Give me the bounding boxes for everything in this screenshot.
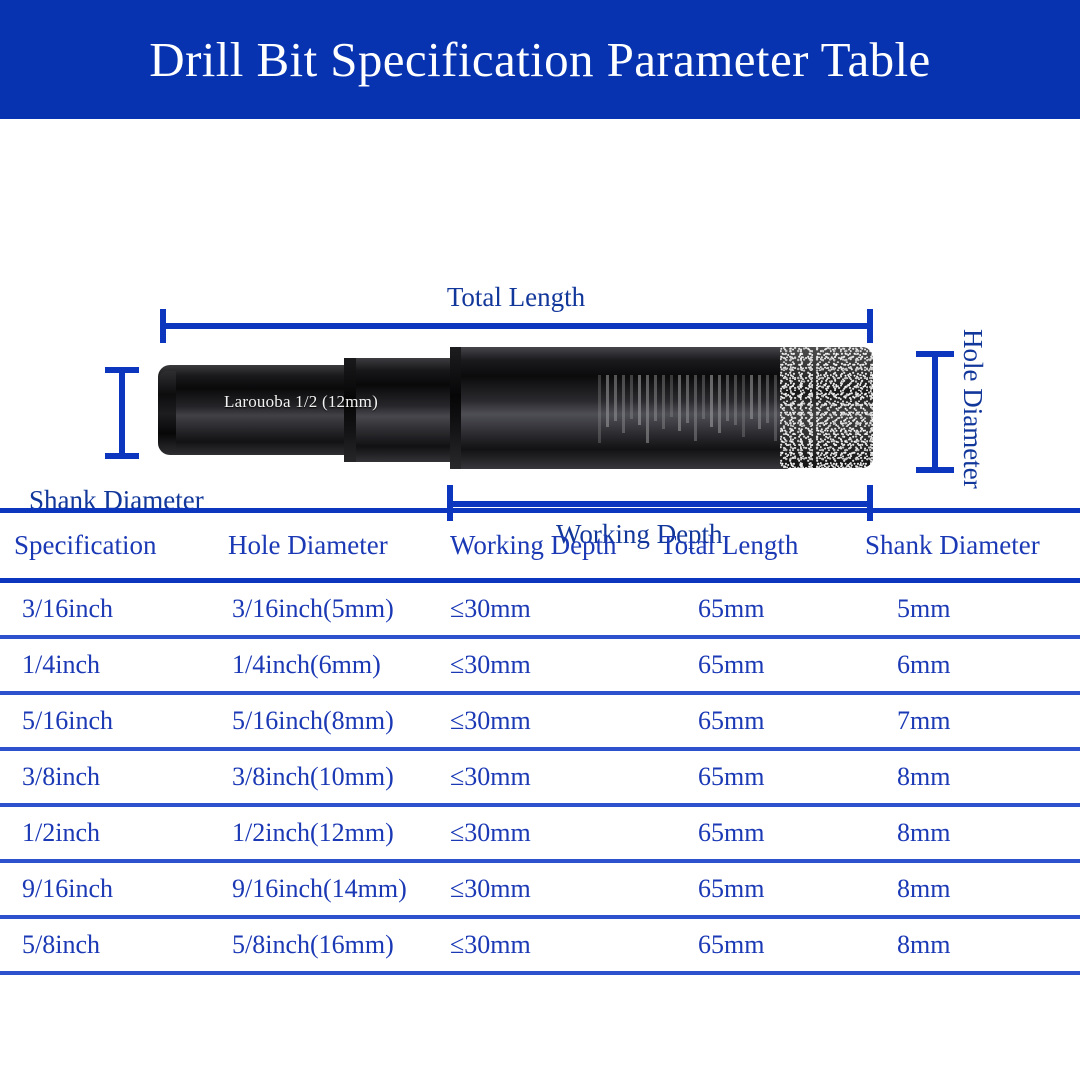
- cell-specification: 5/16inch: [0, 693, 224, 749]
- flute-line: [710, 375, 713, 427]
- cell-specification: 3/16inch: [0, 581, 224, 637]
- flute-line: [646, 375, 649, 443]
- flute-line: [774, 375, 777, 441]
- drill-bit-flute-lines: [598, 375, 784, 443]
- hole-diameter-dimension-cap-top: [916, 351, 954, 357]
- table-row: 5/16inch 5/16inch(8mm) ≤30mm 65mm 7mm: [0, 693, 1080, 749]
- title-banner: Drill Bit Specification Parameter Table: [0, 0, 1080, 119]
- hole-diameter-dimension-cap-bottom: [916, 467, 954, 473]
- flute-line: [758, 375, 761, 429]
- cell-hole-diameter: 9/16inch(14mm): [224, 861, 448, 917]
- column-header-working-depth: Working Depth: [448, 511, 650, 581]
- flute-line: [606, 375, 609, 427]
- cell-specification: 1/2inch: [0, 805, 224, 861]
- cell-total-length: 65mm: [650, 749, 855, 805]
- flute-line: [726, 375, 729, 421]
- table-header-row: Specification Hole Diameter Working Dept…: [0, 511, 1080, 581]
- cell-total-length: 65mm: [650, 917, 855, 973]
- column-header-hole-diameter: Hole Diameter: [224, 511, 448, 581]
- cell-shank-diameter: 5mm: [855, 581, 1080, 637]
- drill-bit-brand-engraving: Larouoba 1/2 (12mm): [224, 392, 378, 412]
- flute-line: [670, 375, 673, 417]
- cell-hole-diameter: 1/4inch(6mm): [224, 637, 448, 693]
- flute-line: [678, 375, 681, 431]
- table-row: 1/2inch 1/2inch(12mm) ≤30mm 65mm 8mm: [0, 805, 1080, 861]
- drill-bit-shank-end-cap: [158, 371, 176, 449]
- total-length-dimension-tick-right: [867, 309, 873, 343]
- cell-working-depth: ≤30mm: [448, 637, 650, 693]
- table-header: Specification Hole Diameter Working Dept…: [0, 511, 1080, 581]
- cell-specification: 3/8inch: [0, 749, 224, 805]
- total-length-dimension-tick-left: [160, 309, 166, 343]
- cell-working-depth: ≤30mm: [448, 917, 650, 973]
- cell-total-length: 65mm: [650, 805, 855, 861]
- cell-shank-diameter: 6mm: [855, 637, 1080, 693]
- cell-hole-diameter: 5/16inch(8mm): [224, 693, 448, 749]
- shank-diameter-dimension-cap-top: [105, 367, 139, 373]
- cell-total-length: 65mm: [650, 861, 855, 917]
- cell-working-depth: ≤30mm: [448, 749, 650, 805]
- cell-specification: 9/16inch: [0, 861, 224, 917]
- cell-working-depth: ≤30mm: [448, 693, 650, 749]
- flute-line: [734, 375, 737, 425]
- flute-line: [742, 375, 745, 437]
- cell-total-length: 65mm: [650, 637, 855, 693]
- specification-table: Specification Hole Diameter Working Dept…: [0, 508, 1080, 975]
- cell-total-length: 65mm: [650, 581, 855, 637]
- cell-shank-diameter: 8mm: [855, 861, 1080, 917]
- cell-hole-diameter: 5/8inch(16mm): [224, 917, 448, 973]
- flute-line: [750, 375, 753, 419]
- shank-diameter-dimension-cap-bottom: [105, 453, 139, 459]
- column-header-specification: Specification: [0, 511, 224, 581]
- hole-diameter-label: Hole Diameter: [957, 329, 988, 489]
- table-row: 1/4inch 1/4inch(6mm) ≤30mm 65mm 6mm: [0, 637, 1080, 693]
- cell-total-length: 65mm: [650, 693, 855, 749]
- flute-line: [638, 375, 641, 425]
- flute-line: [654, 375, 657, 421]
- table-body: 3/16inch 3/16inch(5mm) ≤30mm 65mm 5mm 1/…: [0, 581, 1080, 973]
- total-length-label: Total Length: [0, 282, 1056, 313]
- cell-shank-diameter: 8mm: [855, 805, 1080, 861]
- cell-working-depth: ≤30mm: [448, 581, 650, 637]
- flute-line: [662, 375, 665, 429]
- cell-shank-diameter: 8mm: [855, 749, 1080, 805]
- flute-line: [598, 375, 601, 443]
- cell-specification: 1/4inch: [0, 637, 224, 693]
- table-row: 3/8inch 3/8inch(10mm) ≤30mm 65mm 8mm: [0, 749, 1080, 805]
- cell-hole-diameter: 3/8inch(10mm): [224, 749, 448, 805]
- flute-line: [614, 375, 617, 421]
- working-depth-dimension-bar: [447, 501, 873, 507]
- cell-specification: 5/8inch: [0, 917, 224, 973]
- hole-diameter-dimension-stem: [932, 351, 938, 473]
- cell-shank-diameter: 7mm: [855, 693, 1080, 749]
- flute-line: [622, 375, 625, 433]
- drill-bit-body-ring: [450, 347, 461, 469]
- total-length-dimension-bar: [160, 323, 873, 329]
- cell-hole-diameter: 1/2inch(12mm): [224, 805, 448, 861]
- page-title: Drill Bit Specification Parameter Table: [0, 0, 1080, 119]
- column-header-shank-diameter: Shank Diameter: [855, 511, 1080, 581]
- cell-working-depth: ≤30mm: [448, 861, 650, 917]
- flute-line: [694, 375, 697, 441]
- drill-bit-diagram: Larouoba 1/2 (12mm) Total Length Shank D…: [0, 119, 1080, 504]
- shank-diameter-dimension-stem: [119, 367, 125, 459]
- table-row: 5/8inch 5/8inch(16mm) ≤30mm 65mm 8mm: [0, 917, 1080, 973]
- cell-working-depth: ≤30mm: [448, 805, 650, 861]
- cell-shank-diameter: 8mm: [855, 917, 1080, 973]
- flute-line: [702, 375, 705, 419]
- flute-line: [630, 375, 633, 419]
- flute-line: [686, 375, 689, 423]
- drill-bit-diamond-tip: [780, 347, 873, 468]
- flute-line: [766, 375, 769, 423]
- column-header-total-length: Total Length: [650, 511, 855, 581]
- table-row: 9/16inch 9/16inch(14mm) ≤30mm 65mm 8mm: [0, 861, 1080, 917]
- table-row: 3/16inch 3/16inch(5mm) ≤30mm 65mm 5mm: [0, 581, 1080, 637]
- flute-line: [718, 375, 721, 433]
- cell-hole-diameter: 3/16inch(5mm): [224, 581, 448, 637]
